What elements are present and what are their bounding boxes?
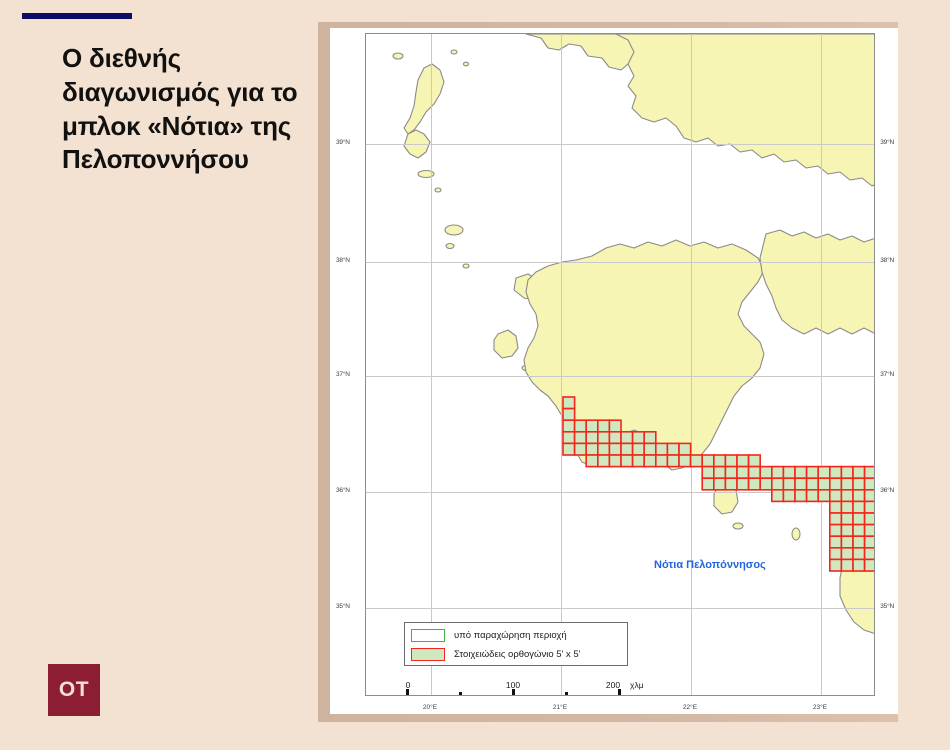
block-cell[interactable]	[702, 478, 714, 490]
lat-label-37-right: 37°N	[880, 371, 894, 378]
lon-label-22E: 22°E	[683, 704, 697, 711]
scalebar-unit: χλμ	[630, 680, 644, 690]
block-cell[interactable]	[749, 455, 761, 467]
left-panel: Ο διεθνής διαγωνισμός για το μπλοκ «Νότι…	[0, 0, 330, 750]
page-title: Ο διεθνής διαγωνισμός για το μπλοκ «Νότι…	[62, 42, 327, 177]
block-cell[interactable]	[783, 478, 795, 490]
block-cell[interactable]	[679, 443, 691, 455]
block-cell[interactable]	[841, 536, 853, 548]
block-cell[interactable]	[714, 455, 726, 467]
block-cell[interactable]	[702, 467, 714, 479]
block-cell[interactable]	[807, 467, 819, 479]
logo-text: OT	[59, 678, 89, 702]
block-cell[interactable]	[725, 455, 737, 467]
block-cell[interactable]	[830, 525, 842, 537]
block-cell[interactable]	[865, 525, 875, 537]
scalebar-tick	[406, 689, 409, 696]
block-cell[interactable]	[830, 536, 842, 548]
block-cell[interactable]	[853, 525, 865, 537]
block-cell[interactable]	[563, 432, 575, 444]
scalebar-label-200: 200	[606, 680, 620, 690]
block-cell[interactable]	[853, 467, 865, 479]
block-cell[interactable]	[783, 467, 795, 479]
block-cell[interactable]	[621, 455, 633, 467]
concession-block-grid[interactable]	[366, 34, 875, 696]
block-cell[interactable]	[865, 548, 875, 560]
block-cell[interactable]	[830, 559, 842, 571]
lat-label-36-right: 36°N	[880, 487, 894, 494]
block-cell[interactable]	[714, 467, 726, 479]
block-cell[interactable]	[830, 548, 842, 560]
block-cell[interactable]	[644, 443, 656, 455]
block-cell[interactable]	[667, 443, 679, 455]
block-cell[interactable]	[772, 467, 784, 479]
block-cell[interactable]	[841, 559, 853, 571]
block-cell[interactable]	[807, 490, 819, 502]
block-cell[interactable]	[644, 432, 656, 444]
lat-label-35-right: 35°N	[880, 603, 894, 610]
block-cell[interactable]	[772, 490, 784, 502]
lat-label-37-left: 37°N	[336, 371, 350, 378]
scalebar-tick	[618, 689, 621, 696]
block-cell[interactable]	[853, 536, 865, 548]
block-cell[interactable]	[830, 490, 842, 502]
block-cell[interactable]	[702, 455, 714, 467]
block-cell[interactable]	[609, 420, 621, 432]
block-cell[interactable]	[633, 443, 645, 455]
block-cell[interactable]	[760, 467, 772, 479]
block-cell[interactable]	[725, 467, 737, 479]
block-cell[interactable]	[772, 478, 784, 490]
block-cell[interactable]	[644, 455, 656, 467]
block-cell[interactable]	[575, 432, 587, 444]
block-cell[interactable]	[830, 478, 842, 490]
legend-label-cell: Στοιχειώδεις ορθογώνιο 5' x 5'	[454, 649, 580, 660]
block-cell[interactable]	[795, 490, 807, 502]
block-cell[interactable]	[841, 478, 853, 490]
block-cell[interactable]	[841, 513, 853, 525]
block-cell[interactable]	[841, 501, 853, 513]
block-cell[interactable]	[633, 455, 645, 467]
block-cell[interactable]	[853, 501, 865, 513]
block-cell[interactable]	[865, 559, 875, 571]
legend-swatch-cell	[411, 648, 445, 661]
block-cell[interactable]	[725, 478, 737, 490]
block-cell[interactable]	[841, 467, 853, 479]
scalebar-label-100: 100	[506, 680, 520, 690]
block-cell[interactable]	[737, 467, 749, 479]
map-scalebar: 0 100 200 χλμ	[406, 682, 621, 696]
block-cell[interactable]	[818, 467, 830, 479]
block-cell[interactable]	[865, 467, 875, 479]
map-inner: Νότια Πελοπόννησος υπό παραχώρηση περιοχ…	[330, 28, 898, 714]
block-cell[interactable]	[679, 455, 691, 467]
lon-label-23E: 23°E	[813, 704, 827, 711]
scalebar-label-0: 0	[406, 680, 411, 690]
block-cell[interactable]	[841, 525, 853, 537]
map-legend: υπό παραχώρηση περιοχή Στοιχειώδεις ορθο…	[404, 622, 628, 666]
block-cell[interactable]	[807, 478, 819, 490]
lat-label-38-left: 38°N	[336, 257, 350, 264]
block-cell[interactable]	[853, 548, 865, 560]
scalebar-tick	[512, 689, 515, 696]
block-cell[interactable]	[865, 536, 875, 548]
block-cell[interactable]	[795, 467, 807, 479]
block-cell[interactable]	[691, 455, 703, 467]
lat-label-36-left: 36°N	[336, 487, 350, 494]
block-cell[interactable]	[598, 455, 610, 467]
block-cell[interactable]	[841, 490, 853, 502]
block-cell[interactable]	[609, 443, 621, 455]
block-cell[interactable]	[737, 478, 749, 490]
lon-label-21E: 21°E	[553, 704, 567, 711]
scalebar-tick	[459, 692, 462, 696]
block-cell[interactable]	[586, 455, 598, 467]
block-cell[interactable]	[853, 490, 865, 502]
block-cell[interactable]	[621, 432, 633, 444]
block-cell[interactable]	[830, 501, 842, 513]
legend-swatch-concession	[411, 629, 445, 642]
block-cell[interactable]	[586, 443, 598, 455]
block-cell[interactable]	[714, 478, 726, 490]
block-cell[interactable]	[598, 443, 610, 455]
block-cell[interactable]	[749, 478, 761, 490]
block-cell[interactable]	[586, 420, 598, 432]
lon-label-20E: 20°E	[423, 704, 437, 711]
scalebar-tick	[565, 692, 568, 696]
block-cell[interactable]	[563, 397, 575, 409]
block-cell[interactable]	[667, 455, 679, 467]
block-cell[interactable]	[783, 490, 795, 502]
legend-label-concession: υπό παραχώρηση περιοχή	[454, 630, 567, 641]
block-cell[interactable]	[586, 432, 598, 444]
block-cell[interactable]	[609, 455, 621, 467]
block-cell[interactable]	[656, 455, 668, 467]
lat-label-39-right: 39°N	[880, 139, 894, 146]
block-cell[interactable]	[737, 455, 749, 467]
block-cell[interactable]	[609, 432, 621, 444]
block-cell[interactable]	[621, 443, 633, 455]
block-cell[interactable]	[749, 467, 761, 479]
block-cell[interactable]	[563, 443, 575, 455]
block-label: Νότια Πελοπόννησος	[654, 559, 766, 571]
block-cell[interactable]	[865, 478, 875, 490]
map-plot-area[interactable]: Νότια Πελοπόννησος υπό παραχώρηση περιοχ…	[365, 33, 875, 696]
map-card[interactable]: Νότια Πελοπόννησος υπό παραχώρηση περιοχ…	[330, 28, 898, 714]
block-cell[interactable]	[865, 490, 875, 502]
block-cell[interactable]	[633, 432, 645, 444]
lat-label-39-left: 39°N	[336, 139, 350, 146]
block-cell[interactable]	[598, 432, 610, 444]
block-cell[interactable]	[853, 559, 865, 571]
block-cell[interactable]	[853, 513, 865, 525]
block-cell[interactable]	[563, 409, 575, 421]
block-cell[interactable]	[853, 478, 865, 490]
accent-bar	[22, 13, 132, 19]
block-cell[interactable]	[841, 548, 853, 560]
block-cell[interactable]	[656, 443, 668, 455]
lat-label-35-left: 35°N	[336, 603, 350, 610]
lat-label-38-right: 38°N	[880, 257, 894, 264]
block-cell[interactable]	[818, 490, 830, 502]
block-cell[interactable]	[795, 478, 807, 490]
block-cell[interactable]	[575, 443, 587, 455]
block-cell[interactable]	[598, 420, 610, 432]
block-cell[interactable]	[563, 420, 575, 432]
block-cell[interactable]	[865, 501, 875, 513]
block-cell[interactable]	[865, 513, 875, 525]
block-cell[interactable]	[575, 420, 587, 432]
block-cell[interactable]	[818, 478, 830, 490]
block-cell[interactable]	[830, 513, 842, 525]
legend-item: Στοιχειώδεις ορθογώνιο 5' x 5'	[411, 646, 621, 663]
block-cell[interactable]	[830, 467, 842, 479]
block-cell[interactable]	[760, 478, 772, 490]
logo[interactable]: OT	[48, 664, 100, 716]
legend-item: υπό παραχώρηση περιοχή	[411, 627, 621, 644]
